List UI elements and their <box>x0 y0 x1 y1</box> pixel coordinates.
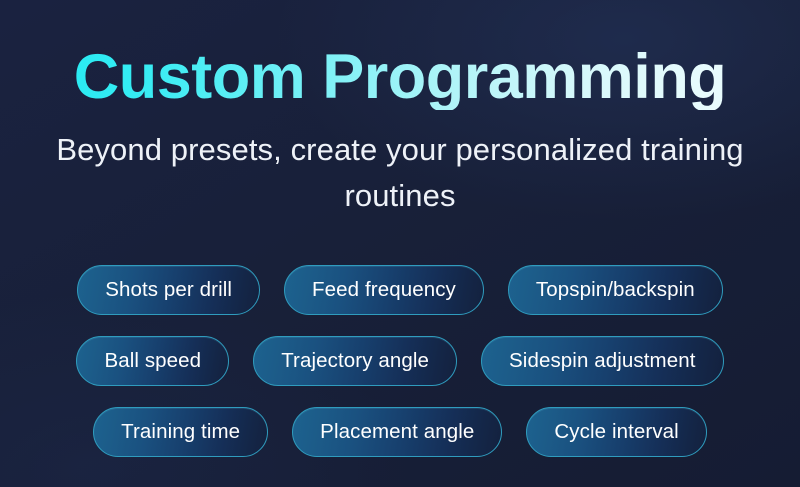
pill-trajectory-angle[interactable]: Trajectory angle <box>253 336 457 386</box>
pill-row-1: Shots per drill Feed frequency Topspin/b… <box>0 265 800 315</box>
slide-root: Custom Programming Beyond presets, creat… <box>0 0 800 487</box>
pill-cycle-interval[interactable]: Cycle interval <box>526 407 706 457</box>
pill-label: Feed frequency <box>312 280 456 301</box>
pill-ball-speed[interactable]: Ball speed <box>76 336 229 386</box>
pill-feed-frequency[interactable]: Feed frequency <box>284 265 484 315</box>
pill-row-2: Ball speed Trajectory angle Sidespin adj… <box>0 336 800 386</box>
pill-label: Topspin/backspin <box>536 280 695 301</box>
pill-label: Training time <box>121 422 240 443</box>
pill-label: Trajectory angle <box>281 351 429 372</box>
pill-label: Cycle interval <box>554 422 678 443</box>
pill-training-time[interactable]: Training time <box>93 407 268 457</box>
header-block: Custom Programming Beyond presets, creat… <box>0 0 800 219</box>
pill-placement-angle[interactable]: Placement angle <box>292 407 502 457</box>
page-subtitle: Beyond presets, create your personalized… <box>0 110 800 219</box>
pill-topspin-backspin[interactable]: Topspin/backspin <box>508 265 723 315</box>
pill-row-3: Training time Placement angle Cycle inte… <box>0 407 800 457</box>
pill-sidespin-adjustment[interactable]: Sidespin adjustment <box>481 336 724 386</box>
pill-label: Sidespin adjustment <box>509 351 696 372</box>
page-title: Custom Programming <box>0 0 800 110</box>
pill-label: Placement angle <box>320 422 474 443</box>
pill-shots-per-drill[interactable]: Shots per drill <box>77 265 260 315</box>
pill-label: Ball speed <box>104 351 201 372</box>
feature-pill-grid: Shots per drill Feed frequency Topspin/b… <box>0 265 800 457</box>
pill-label: Shots per drill <box>105 280 232 301</box>
